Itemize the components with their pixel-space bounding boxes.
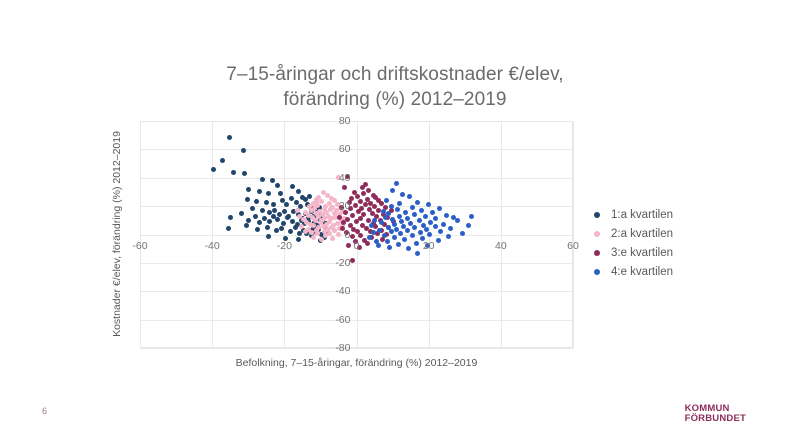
scatter-point-series-4 [403, 210, 408, 215]
scatter-point-series-3 [358, 233, 363, 238]
logo-line-2: FÖRBUNDET [685, 414, 746, 424]
scatter-point-series-1 [267, 219, 272, 224]
scatter-point-series-2 [295, 208, 300, 213]
y-tick-label: -80 [321, 342, 351, 354]
scatter-point-series-4 [441, 222, 446, 227]
scatter-point-series-4 [389, 204, 394, 209]
scatter-point-series-2 [314, 200, 319, 205]
scatter-point-series-1 [270, 178, 275, 183]
legend-item-3[interactable]: 3:e kvartilen [594, 243, 673, 262]
scatter-point-series-1 [246, 187, 251, 192]
scatter-point-series-4 [410, 205, 415, 210]
scatter-point-series-1 [246, 218, 251, 223]
scatter-point-series-1 [281, 221, 286, 226]
scatter-point-series-1 [241, 148, 246, 153]
x-tick-label: -60 [120, 240, 160, 252]
x-tick-label: -20 [264, 240, 304, 252]
gridline-vertical [284, 121, 285, 348]
scatter-point-series-4 [382, 233, 387, 238]
scatter-point-series-1 [227, 135, 232, 140]
scatter-point-series-1 [231, 170, 236, 175]
scatter-point-series-4 [397, 214, 402, 219]
slide-canvas: 7–15-åringar och driftskostnader €/elev,… [0, 0, 790, 444]
y-tick-label: -40 [321, 285, 351, 297]
scatter-point-series-1 [226, 226, 231, 231]
scatter-point-series-1 [266, 234, 271, 239]
scatter-point-series-3 [358, 199, 363, 204]
legend-swatch-icon [594, 231, 600, 237]
scatter-point-series-4 [372, 218, 377, 223]
y-axis-title: Kostnader €/elev, förändring (%) 2012–20… [111, 131, 123, 337]
scatter-point-series-4 [394, 181, 399, 186]
scatter-point-series-4 [396, 242, 401, 247]
gridline-vertical [140, 121, 141, 348]
gridline-horizontal [140, 348, 573, 349]
scatter-point-series-4 [395, 207, 400, 212]
y-tick-label: 40 [321, 172, 351, 184]
legend-item-label: 4:e kvartilen [611, 266, 673, 278]
gridline-vertical [501, 121, 502, 348]
scatter-point-series-4 [417, 218, 422, 223]
scatter-point-series-4 [427, 232, 432, 237]
scatter-point-series-2 [303, 229, 308, 234]
scatter-point-series-4 [419, 208, 424, 213]
y-tick-label: 60 [321, 143, 351, 155]
scatter-point-series-1 [296, 189, 301, 194]
scatter-point-series-3 [355, 194, 360, 199]
legend-item-2[interactable]: 2:a kvartilen [594, 224, 673, 243]
scatter-point-series-3 [337, 215, 342, 220]
gridline-vertical [573, 121, 574, 348]
y-tick-label: 80 [321, 115, 351, 127]
scatter-point-series-1 [290, 184, 295, 189]
scatter-point-series-1 [257, 220, 262, 225]
scatter-point-series-4 [383, 215, 388, 220]
scatter-point-series-1 [245, 197, 250, 202]
legend-swatch-icon [594, 250, 600, 256]
x-tick-label: 40 [481, 240, 521, 252]
scatter-point-series-4 [451, 215, 456, 220]
chart-legend: 1:a kvartilen2:a kvartilen3:e kvartilen4… [594, 205, 673, 281]
scatter-point-series-1 [264, 200, 269, 205]
scatter-point-series-1 [254, 199, 259, 204]
scatter-point-series-1 [275, 183, 280, 188]
x-tick-label: -40 [192, 240, 232, 252]
scatter-point-series-1 [265, 225, 270, 230]
scatter-point-series-4 [448, 226, 453, 231]
gridline-vertical [212, 121, 213, 348]
page-title: 7–15-åringar och driftskostnader €/elev,… [150, 62, 640, 112]
scatter-point-series-1 [289, 196, 294, 201]
scatter-point-series-4 [437, 206, 442, 211]
scatter-point-series-3 [366, 218, 371, 223]
page-number: 6 [42, 406, 47, 416]
scatter-point-series-4 [392, 235, 397, 240]
scatter-point-series-2 [297, 214, 302, 219]
x-tick-label: 0 [337, 240, 377, 252]
scatter-point-series-4 [387, 245, 392, 250]
legend-item-4[interactable]: 4:e kvartilen [594, 262, 673, 281]
legend-item-label: 3:e kvartilen [611, 247, 673, 259]
legend-item-1[interactable]: 1:a kvartilen [594, 205, 673, 224]
scatter-point-series-4 [405, 228, 410, 233]
legend-item-label: 1:a kvartilen [611, 209, 673, 221]
scatter-plot [140, 121, 573, 348]
legend-swatch-icon [594, 269, 600, 275]
x-tick-label: 60 [553, 240, 593, 252]
scatter-point-series-2 [309, 208, 314, 213]
x-axis-title: Befolkning, 7–15-åringar, förändring (%)… [140, 357, 573, 369]
y-tick-label: 20 [321, 200, 351, 212]
scatter-point-series-1 [255, 227, 260, 232]
legend-item-label: 2:a kvartilen [611, 228, 673, 240]
scatter-point-series-3 [376, 208, 381, 213]
kommunforbundet-logo: KOMMUN FÖRBUNDET [685, 404, 746, 423]
scatter-point-series-1 [266, 191, 271, 196]
x-tick-label: 20 [409, 240, 449, 252]
scatter-point-series-4 [377, 228, 382, 233]
scatter-point-series-1 [307, 194, 312, 199]
legend-swatch-icon [594, 212, 600, 218]
y-tick-label: -60 [321, 314, 351, 326]
scatter-point-series-4 [444, 213, 449, 218]
y-tick-label: -20 [321, 257, 351, 269]
scatter-point-series-2 [311, 235, 316, 240]
